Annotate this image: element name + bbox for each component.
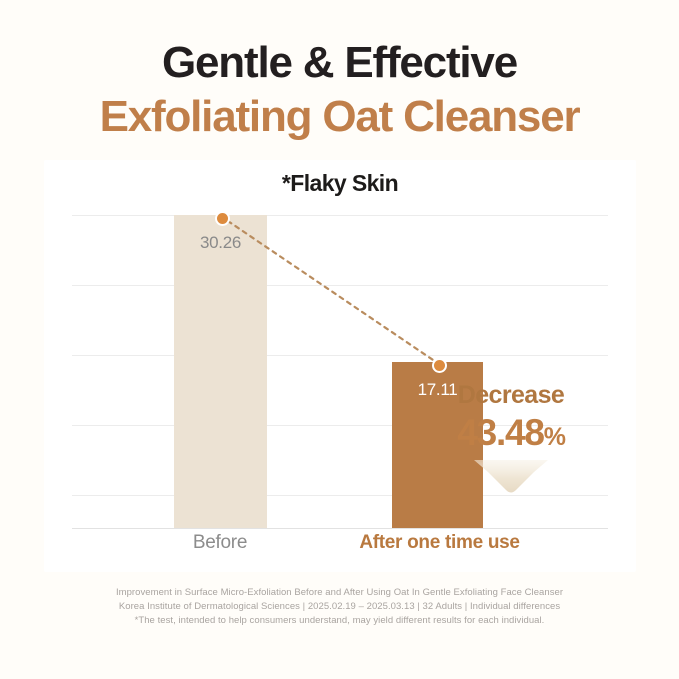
callout-percent-symbol: % xyxy=(544,423,565,451)
callout-label: Decrease xyxy=(416,382,606,410)
down-arrow-icon xyxy=(468,456,554,496)
chart-x-axis-labels: Before After one time use xyxy=(72,532,608,562)
callout-value: 43.48 xyxy=(457,412,544,453)
bar-before[interactable]: 30.26 xyxy=(174,215,267,528)
chart-axis-line xyxy=(72,528,608,529)
chart-title: *Flaky Skin xyxy=(44,170,636,197)
footnote-block: Improvement in Surface Micro-Exfoliation… xyxy=(0,586,679,628)
marker-dot-before xyxy=(215,211,230,226)
chart-card: *Flaky Skin 30.26 17.11 Before After one… xyxy=(44,160,636,572)
bar-value-before: 30.26 xyxy=(174,233,267,253)
gridline xyxy=(72,215,608,216)
decrease-callout: Decrease 43.48% xyxy=(416,382,606,501)
marker-dot-after xyxy=(432,358,447,373)
x-label-before: Before xyxy=(150,532,290,554)
gridline xyxy=(72,285,608,286)
gridline xyxy=(72,355,608,356)
headline-line-primary: Gentle & Effective xyxy=(0,38,679,89)
footnote-line-2: Korea Institute of Dermatological Scienc… xyxy=(0,600,679,614)
x-label-after: After one time use xyxy=(352,532,527,554)
callout-value-row: 43.48% xyxy=(416,412,606,455)
page-headline: Gentle & Effective Exfoliating Oat Clean… xyxy=(0,38,679,143)
footnote-line-3: *The test, intended to help consumers un… xyxy=(0,614,679,628)
headline-line-secondary: Exfoliating Oat Cleanser xyxy=(0,91,679,143)
footnote-line-1: Improvement in Surface Micro-Exfoliation… xyxy=(0,586,679,600)
